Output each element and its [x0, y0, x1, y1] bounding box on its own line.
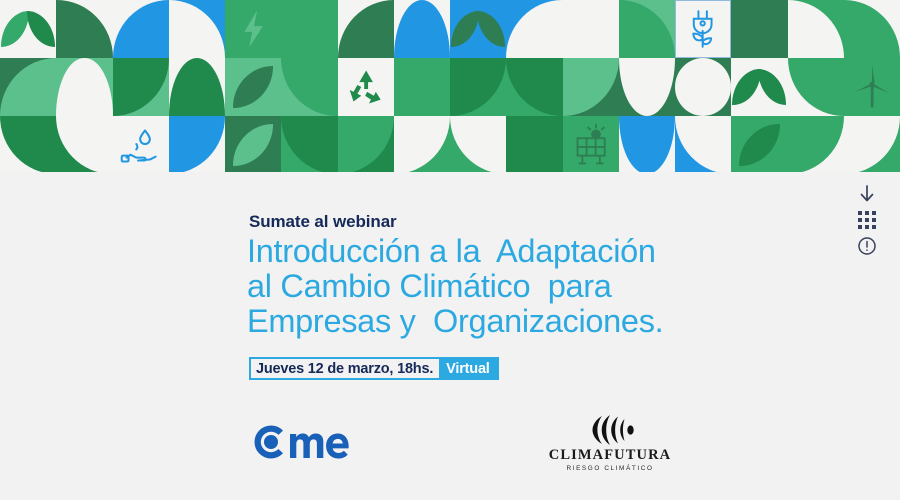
quarter-circle-shape: [619, 0, 675, 58]
recycle-icon: [338, 58, 394, 116]
headline-line-3: Empresas y Organizaciones.: [247, 304, 677, 339]
quarter-circle-shape: [169, 0, 225, 58]
tile-bolt: [225, 0, 281, 58]
quarter-circle-shape: [169, 116, 225, 172]
tile-leaf: [731, 116, 787, 172]
sprout-icon: [450, 0, 506, 58]
tile-solid-green: [731, 0, 787, 58]
quarter-circle-shape: [450, 116, 506, 172]
quarter-circle-shape: [844, 0, 900, 58]
quarter-circle-shape: [338, 116, 394, 172]
half-circle-shape: [56, 58, 112, 116]
poster-content: Sumate al webinar Introducción a la Adap…: [0, 172, 900, 500]
water-drop-hand-icon: [113, 116, 169, 172]
half-circle-shape: [169, 58, 225, 116]
quarter-circle-shape: [281, 58, 337, 116]
grid-dots-icon[interactable]: [858, 211, 876, 229]
quarter-circle-shape: [281, 116, 337, 172]
page-title: Introducción a la Adaptación al Cambio C…: [247, 234, 677, 339]
grid-dot: [858, 225, 862, 229]
tile-solid-green: [394, 58, 450, 116]
tile-quarter-green: [281, 58, 337, 116]
quarter-circle-shape: [844, 116, 900, 172]
grid-dot: [865, 218, 869, 222]
tile-quarter-green: [619, 0, 675, 58]
event-date-text: Jueves 12 de marzo, 18hs.: [251, 359, 439, 378]
quarter-circle-shape: [563, 58, 619, 116]
quarter-circle-shape: [788, 0, 844, 58]
download-arrow-icon[interactable]: [856, 183, 878, 205]
grid-dot: [865, 211, 869, 215]
tile-quarter-green: [0, 58, 56, 116]
tile-quarter-green: [56, 116, 112, 172]
half-circle-shape: [619, 58, 675, 116]
tile-circle-green: [113, 58, 169, 116]
tile-half-blue: [619, 116, 675, 172]
tile-quarter-green: [0, 116, 56, 172]
tile-quarter-green: [450, 58, 506, 116]
quarter-circle-shape: [788, 58, 844, 116]
tile-half-white: [619, 58, 675, 116]
tile-sprout: [731, 58, 787, 116]
tile-leaf: [225, 58, 281, 116]
sprout-icon: [731, 58, 787, 116]
lightning-bolt-icon: [225, 0, 281, 58]
came-wordmark-icon: [246, 420, 350, 464]
info-circle-icon[interactable]: [856, 235, 878, 257]
grid-dot: [865, 225, 869, 229]
tile-wind-turbine: [844, 58, 900, 116]
tile-leaf: [225, 116, 281, 172]
tile-quarter-blue: [675, 116, 731, 172]
climafutura-tagline: RIESGO CLIMÁTICO: [548, 465, 672, 472]
quarter-circle-shape: [450, 58, 506, 116]
tile-quarter-blue: [113, 0, 169, 58]
tile-quarter-green: [281, 116, 337, 172]
half-circle-shape: [394, 0, 450, 58]
headline-line-2: al Cambio Climático para: [247, 269, 677, 304]
sprout-icon: [0, 0, 56, 58]
grid-dot: [858, 211, 862, 215]
tile-grid: [0, 0, 900, 172]
quarter-circle-shape: [56, 0, 112, 58]
eco-pattern-banner: [0, 0, 900, 172]
quarter-circle-shape: [506, 0, 562, 58]
half-circle-shape: [619, 116, 675, 172]
quarter-circle-shape: [788, 116, 844, 172]
tile-sprout-on-blue: [450, 0, 506, 58]
plug-plant-icon: [676, 1, 730, 57]
tile-quarter-green: [844, 116, 900, 172]
webinar-poster: Sumate al webinar Introducción a la Adap…: [0, 0, 900, 500]
tile-quarter-green: [506, 58, 562, 116]
tile-quarter-green: [788, 58, 844, 116]
leaf-icon: [233, 66, 274, 108]
quarter-circle-shape: [56, 116, 112, 172]
tile-solar-panel: [563, 116, 619, 172]
tile-recycle: [338, 58, 394, 116]
tile-plug-plant: [675, 0, 731, 58]
quarter-circle-shape: [506, 58, 562, 116]
tile-quarter-green: [844, 0, 900, 58]
quarter-circle-shape: [113, 0, 169, 58]
tile-water-hand: [113, 116, 169, 172]
tile-solid-green: [506, 116, 562, 172]
tile-quarter-blue: [169, 116, 225, 172]
quarter-circle-shape: [113, 58, 169, 116]
grid-dot: [872, 225, 876, 229]
status-badge: Virtual: [439, 359, 496, 378]
came-logo: [246, 420, 350, 464]
tile-quarter-white: [394, 116, 450, 172]
solar-panel-icon: [563, 116, 619, 172]
tile-quarter-green: [338, 0, 394, 58]
quarter-circle-shape: [675, 116, 731, 172]
leaf-icon: [739, 124, 780, 166]
icon-rail: [852, 183, 882, 257]
tile-half-blue: [394, 0, 450, 58]
grid-dot: [872, 218, 876, 222]
quarter-circle-shape: [338, 0, 394, 58]
climafutura-logo: CLIMAFUTURA RIESGO CLIMÁTICO: [548, 412, 672, 470]
event-date-badge: Jueves 12 de marzo, 18hs. Virtual: [249, 357, 499, 380]
wind-turbine-icon: [844, 58, 900, 116]
quarter-circle-shape: [0, 58, 56, 116]
tile-circle-white: [675, 58, 731, 116]
tile-quarter-green: [788, 0, 844, 58]
eyebrow-text: Sumate al webinar: [249, 212, 397, 232]
tile-quarter-green: [56, 0, 112, 58]
leaf-icon: [233, 124, 274, 166]
climafutura-globe-icon: [548, 412, 672, 448]
tile-sprout: [0, 0, 56, 58]
tile-quarter-white: [450, 116, 506, 172]
headline-line-1: Introducción a la Adaptación: [247, 234, 677, 269]
tile-half-green: [169, 58, 225, 116]
quarter-circle-shape: [394, 116, 450, 172]
tile-quarter-green: [338, 116, 394, 172]
tile-quarter-green: [788, 116, 844, 172]
quarter-circle-shape: [0, 116, 56, 172]
grid-dot: [858, 218, 862, 222]
tile-star-cut: [563, 0, 619, 58]
tile-quarter-light: [563, 58, 619, 116]
tile-solid-green: [281, 0, 337, 58]
tile-quarter-blue: [506, 0, 562, 58]
tile-half-green: [56, 58, 112, 116]
grid-dot: [872, 211, 876, 215]
circle-shape: [675, 58, 731, 116]
tile-quarter-blue: [169, 0, 225, 58]
climafutura-name: CLIMAFUTURA: [548, 449, 672, 462]
